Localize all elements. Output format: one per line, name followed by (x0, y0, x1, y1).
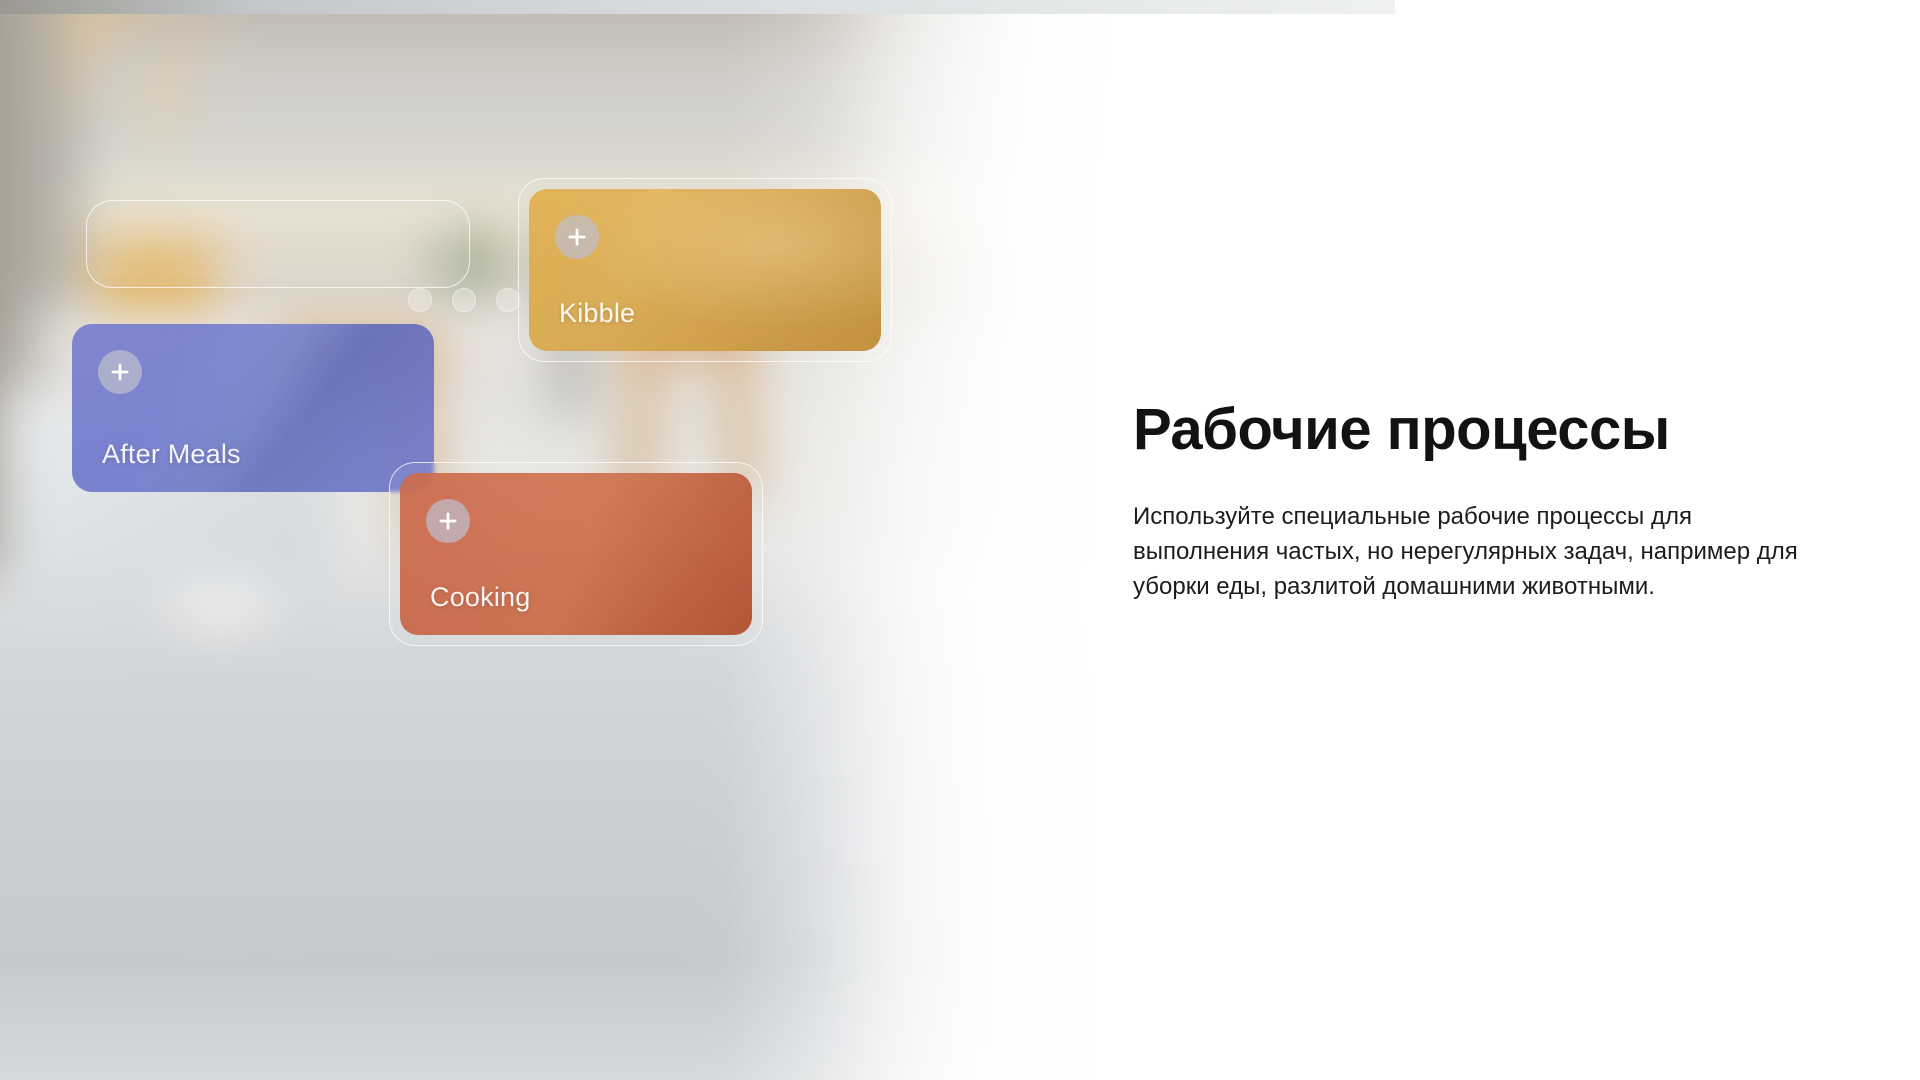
workflow-card-cooking-body: Cooking (400, 473, 752, 635)
plus-icon (437, 510, 459, 532)
workflow-card-after-meals[interactable]: After Meals (72, 324, 434, 492)
add-workflow-button-kibble[interactable] (555, 215, 599, 259)
page-title: Рабочие процессы (1133, 400, 1833, 460)
add-workflow-button-cooking[interactable] (426, 499, 470, 543)
page-dots[interactable] (408, 288, 528, 314)
add-workflow-button-after-meals[interactable] (98, 350, 142, 394)
plus-icon (109, 361, 131, 383)
workflow-card-after-meals-label: After Meals (102, 439, 241, 470)
plus-icon (566, 226, 588, 248)
page-description: Используйте специальные рабочие процессы… (1133, 500, 1823, 604)
workflow-card-cooking-label: Cooking (430, 582, 530, 613)
workflow-card-kibble[interactable]: Kibble (518, 178, 892, 362)
page-dot[interactable] (452, 288, 476, 312)
photo-bottom-fade (0, 960, 1395, 1080)
page-dot[interactable] (496, 288, 520, 312)
workflow-card-kibble-label: Kibble (559, 298, 635, 329)
workflow-card-cooking[interactable]: Cooking (389, 462, 763, 646)
top-edge-band (0, 0, 1395, 14)
workflow-card-empty[interactable] (86, 200, 470, 288)
workflow-card-empty-body (97, 211, 459, 277)
page-dot[interactable] (408, 288, 432, 312)
slide-root: After Meals Kibble (0, 0, 1920, 1080)
workflow-card-kibble-body: Kibble (529, 189, 881, 351)
copy-block: Рабочие процессы Используйте специальные… (1133, 400, 1833, 605)
